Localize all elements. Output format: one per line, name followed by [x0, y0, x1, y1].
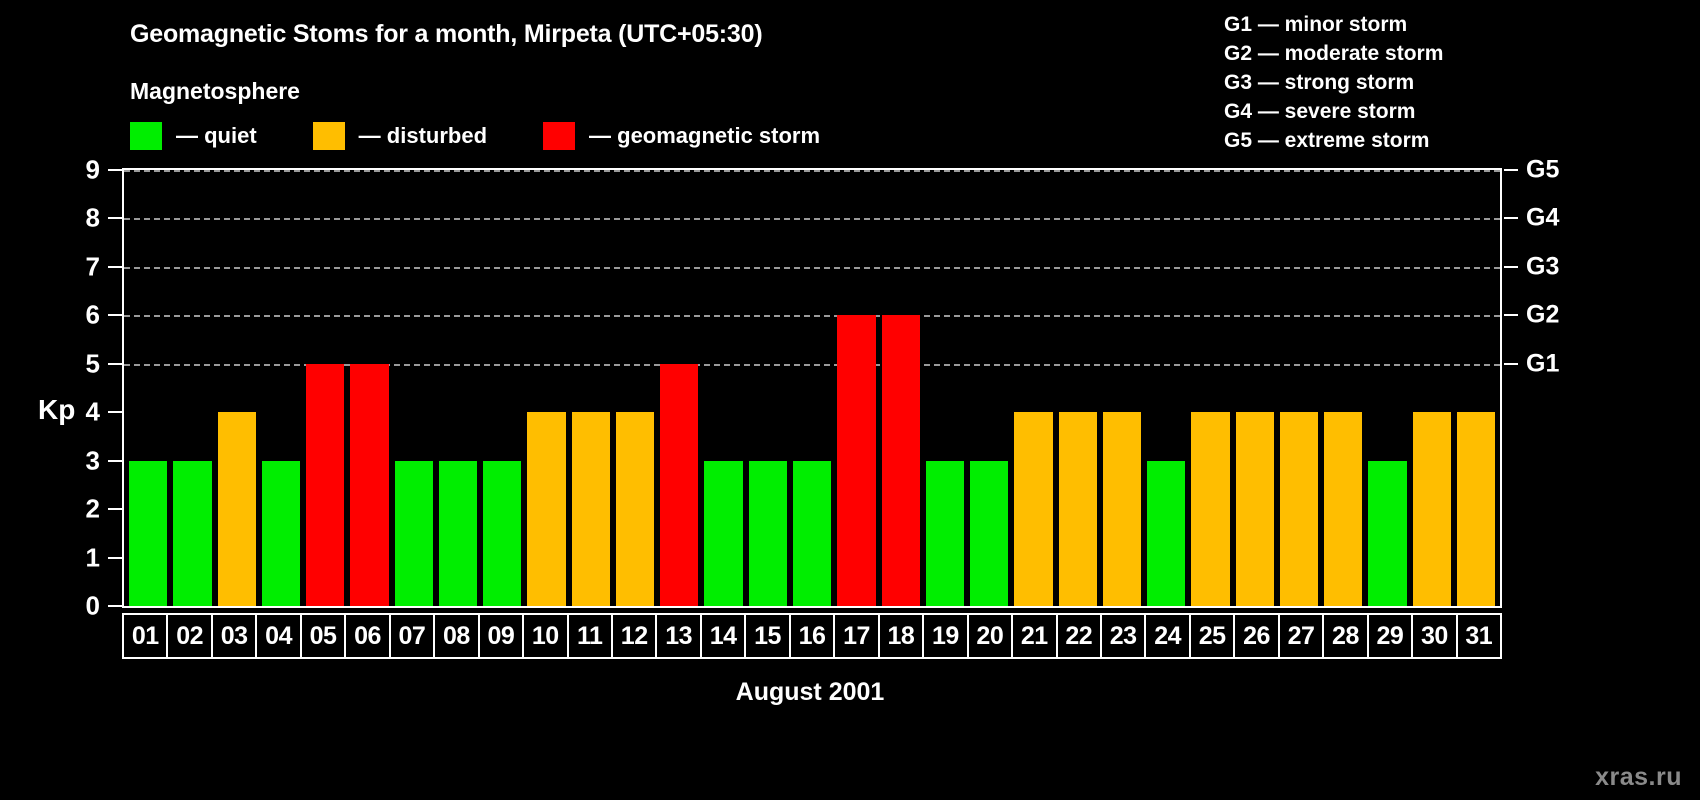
- y-tick-label-4: 4: [86, 397, 100, 428]
- y-tick-label-2: 2: [86, 494, 100, 525]
- legend-swatch-disturbed: [313, 122, 345, 150]
- legend-label-disturbed: — disturbed: [359, 123, 487, 149]
- day-label-07: 07: [391, 615, 435, 657]
- bar-slot-day-22: [1056, 170, 1100, 606]
- watermark: xras.ru: [1595, 763, 1682, 792]
- gscale-key-row-1: G1 — minor storm: [1224, 10, 1443, 39]
- day-label-12: 12: [613, 615, 657, 657]
- bar-slot-day-20: [967, 170, 1011, 606]
- bar-day-10[interactable]: [527, 412, 565, 606]
- bar-slot-day-30: [1410, 170, 1454, 606]
- bar-day-23[interactable]: [1103, 412, 1141, 606]
- day-label-03: 03: [213, 615, 257, 657]
- bar-day-19[interactable]: [926, 461, 964, 606]
- bar-series: [124, 170, 1500, 606]
- x-axis-title-text: August 2001: [736, 678, 885, 706]
- day-label-11: 11: [569, 615, 613, 657]
- y-tick-label-9: 9: [86, 155, 100, 186]
- legend-label-geomagnetic-storm: — geomagnetic storm: [589, 123, 820, 149]
- y-tick-mark-2: [108, 508, 122, 510]
- legend-swatch-geomagnetic-storm: [543, 122, 575, 150]
- day-label-30: 30: [1413, 615, 1457, 657]
- legend-heading: Magnetosphere: [130, 78, 300, 105]
- day-label-06: 06: [346, 615, 390, 657]
- bar-slot-day-08: [436, 170, 480, 606]
- g-tick-mark-G3: [1504, 266, 1518, 268]
- bar-day-07[interactable]: [395, 461, 433, 606]
- y-tick-mark-9: [108, 169, 122, 171]
- g-tick-label-G5: G5: [1526, 156, 1559, 185]
- day-label-09: 09: [480, 615, 524, 657]
- bar-day-30[interactable]: [1413, 412, 1451, 606]
- gscale-key-row-4: G4 — severe storm: [1224, 97, 1443, 126]
- day-label-31: 31: [1458, 615, 1500, 657]
- g-scale-axis: G1G2G3G4G5: [1504, 168, 1624, 608]
- bar-day-29[interactable]: [1368, 461, 1406, 606]
- page-title: Geomagnetic Stoms for a month, Mirpeta (…: [130, 20, 762, 49]
- bar-slot-day-10: [524, 170, 568, 606]
- bar-day-08[interactable]: [439, 461, 477, 606]
- bar-slot-day-03: [215, 170, 259, 606]
- bar-slot-day-12: [613, 170, 657, 606]
- day-label-28: 28: [1324, 615, 1368, 657]
- day-label-27: 27: [1280, 615, 1324, 657]
- legend-swatch-quiet: [130, 122, 162, 150]
- bar-slot-day-15: [746, 170, 790, 606]
- bar-slot-day-16: [790, 170, 834, 606]
- bar-day-05[interactable]: [306, 364, 344, 606]
- bar-slot-day-02: [170, 170, 214, 606]
- bar-day-16[interactable]: [793, 461, 831, 606]
- bar-slot-day-28: [1321, 170, 1365, 606]
- bar-slot-day-11: [569, 170, 613, 606]
- y-tick-mark-8: [108, 217, 122, 219]
- bar-day-25[interactable]: [1191, 412, 1229, 606]
- bar-slot-day-21: [1011, 170, 1055, 606]
- bar-slot-day-04: [259, 170, 303, 606]
- x-axis-day-labels: 0102030405060708091011121314151617181920…: [122, 613, 1502, 659]
- x-axis-title: August 2001: [0, 678, 1700, 707]
- day-label-16: 16: [791, 615, 835, 657]
- day-label-13: 13: [657, 615, 701, 657]
- g-tick-mark-G4: [1504, 217, 1518, 219]
- day-label-22: 22: [1058, 615, 1102, 657]
- bar-slot-day-27: [1277, 170, 1321, 606]
- day-label-01: 01: [124, 615, 168, 657]
- bar-slot-day-07: [392, 170, 436, 606]
- g-tick-label-G4: G4: [1526, 204, 1559, 233]
- y-tick-mark-3: [108, 460, 122, 462]
- bar-slot-day-31: [1454, 170, 1498, 606]
- bar-slot-day-13: [657, 170, 701, 606]
- day-label-17: 17: [835, 615, 879, 657]
- bar-day-14[interactable]: [704, 461, 742, 606]
- bar-day-27[interactable]: [1280, 412, 1318, 606]
- bar-day-20[interactable]: [970, 461, 1008, 606]
- gscale-key-row-5: G5 — extreme storm: [1224, 126, 1443, 155]
- day-label-18: 18: [880, 615, 924, 657]
- bar-day-31[interactable]: [1457, 412, 1495, 606]
- legend-entry-geomagnetic-storm: — geomagnetic storm: [543, 122, 820, 150]
- day-label-02: 02: [168, 615, 212, 657]
- bar-slot-day-23: [1100, 170, 1144, 606]
- gscale-key: G1 — minor stormG2 — moderate stormG3 — …: [1224, 10, 1443, 155]
- day-label-26: 26: [1235, 615, 1279, 657]
- bar-slot-day-01: [126, 170, 170, 606]
- bar-day-18[interactable]: [882, 315, 920, 606]
- day-label-19: 19: [924, 615, 968, 657]
- g-tick-mark-G5: [1504, 169, 1518, 171]
- bar-day-13[interactable]: [660, 364, 698, 606]
- y-tick-mark-7: [108, 266, 122, 268]
- y-tick-label-7: 7: [86, 251, 100, 282]
- legend-entry-quiet: — quiet: [130, 122, 313, 150]
- bar-day-11[interactable]: [572, 412, 610, 606]
- y-tick-label-1: 1: [86, 542, 100, 573]
- g-tick-mark-G2: [1504, 314, 1518, 316]
- bar-slot-day-29: [1365, 170, 1409, 606]
- day-label-25: 25: [1191, 615, 1235, 657]
- y-tick-label-3: 3: [86, 445, 100, 476]
- g-tick-label-G3: G3: [1526, 252, 1559, 281]
- bar-day-17[interactable]: [837, 315, 875, 606]
- gscale-key-row-3: G3 — strong storm: [1224, 68, 1443, 97]
- legend-entry-disturbed: — disturbed: [313, 122, 543, 150]
- y-tick-mark-5: [108, 363, 122, 365]
- bar-day-28[interactable]: [1324, 412, 1362, 606]
- bar-slot-day-26: [1233, 170, 1277, 606]
- bar-slot-day-24: [1144, 170, 1188, 606]
- magnetosphere-legend: — quiet— disturbed— geomagnetic storm: [130, 122, 820, 150]
- bar-day-15[interactable]: [749, 461, 787, 606]
- y-tick-label-5: 5: [86, 348, 100, 379]
- legend-label-quiet: — quiet: [176, 123, 257, 149]
- bar-day-03[interactable]: [218, 412, 256, 606]
- y-tick-mark-6: [108, 314, 122, 316]
- day-label-23: 23: [1102, 615, 1146, 657]
- bar-slot-day-25: [1188, 170, 1232, 606]
- bar-day-21[interactable]: [1014, 412, 1052, 606]
- y-tick-label-6: 6: [86, 300, 100, 331]
- bar-day-04[interactable]: [262, 461, 300, 606]
- y-tick-mark-1: [108, 557, 122, 559]
- day-label-20: 20: [969, 615, 1013, 657]
- y-tick-mark-4: [108, 411, 122, 413]
- bar-day-24[interactable]: [1147, 461, 1185, 606]
- day-label-10: 10: [524, 615, 568, 657]
- y-tick-label-0: 0: [86, 591, 100, 622]
- gscale-key-row-2: G2 — moderate storm: [1224, 39, 1443, 68]
- g-tick-label-G1: G1: [1526, 349, 1559, 378]
- day-label-14: 14: [702, 615, 746, 657]
- bar-slot-day-14: [701, 170, 745, 606]
- bar-slot-day-17: [834, 170, 878, 606]
- day-label-21: 21: [1013, 615, 1057, 657]
- bar-day-02[interactable]: [173, 461, 211, 606]
- day-label-15: 15: [746, 615, 790, 657]
- chart-root: Geomagnetic Stoms for a month, Mirpeta (…: [0, 0, 1700, 800]
- bar-slot-day-19: [923, 170, 967, 606]
- bar-slot-day-06: [347, 170, 391, 606]
- day-label-04: 04: [257, 615, 301, 657]
- bar-slot-day-18: [879, 170, 923, 606]
- y-tick-label-8: 8: [86, 203, 100, 234]
- bar-day-12[interactable]: [616, 412, 654, 606]
- day-label-29: 29: [1369, 615, 1413, 657]
- bar-day-06[interactable]: [350, 364, 388, 606]
- y-tick-mark-0: [108, 605, 122, 607]
- g-tick-mark-G1: [1504, 363, 1518, 365]
- bar-day-09[interactable]: [483, 461, 521, 606]
- bar-slot-day-09: [480, 170, 524, 606]
- y-axis-title: Kp: [38, 394, 75, 426]
- bar-day-22[interactable]: [1059, 412, 1097, 606]
- day-label-08: 08: [435, 615, 479, 657]
- bar-slot-day-05: [303, 170, 347, 606]
- day-label-24: 24: [1146, 615, 1190, 657]
- plot-area: [122, 168, 1502, 608]
- g-tick-label-G2: G2: [1526, 301, 1559, 330]
- bar-day-26[interactable]: [1236, 412, 1274, 606]
- bar-day-01[interactable]: [129, 461, 167, 606]
- day-label-05: 05: [302, 615, 346, 657]
